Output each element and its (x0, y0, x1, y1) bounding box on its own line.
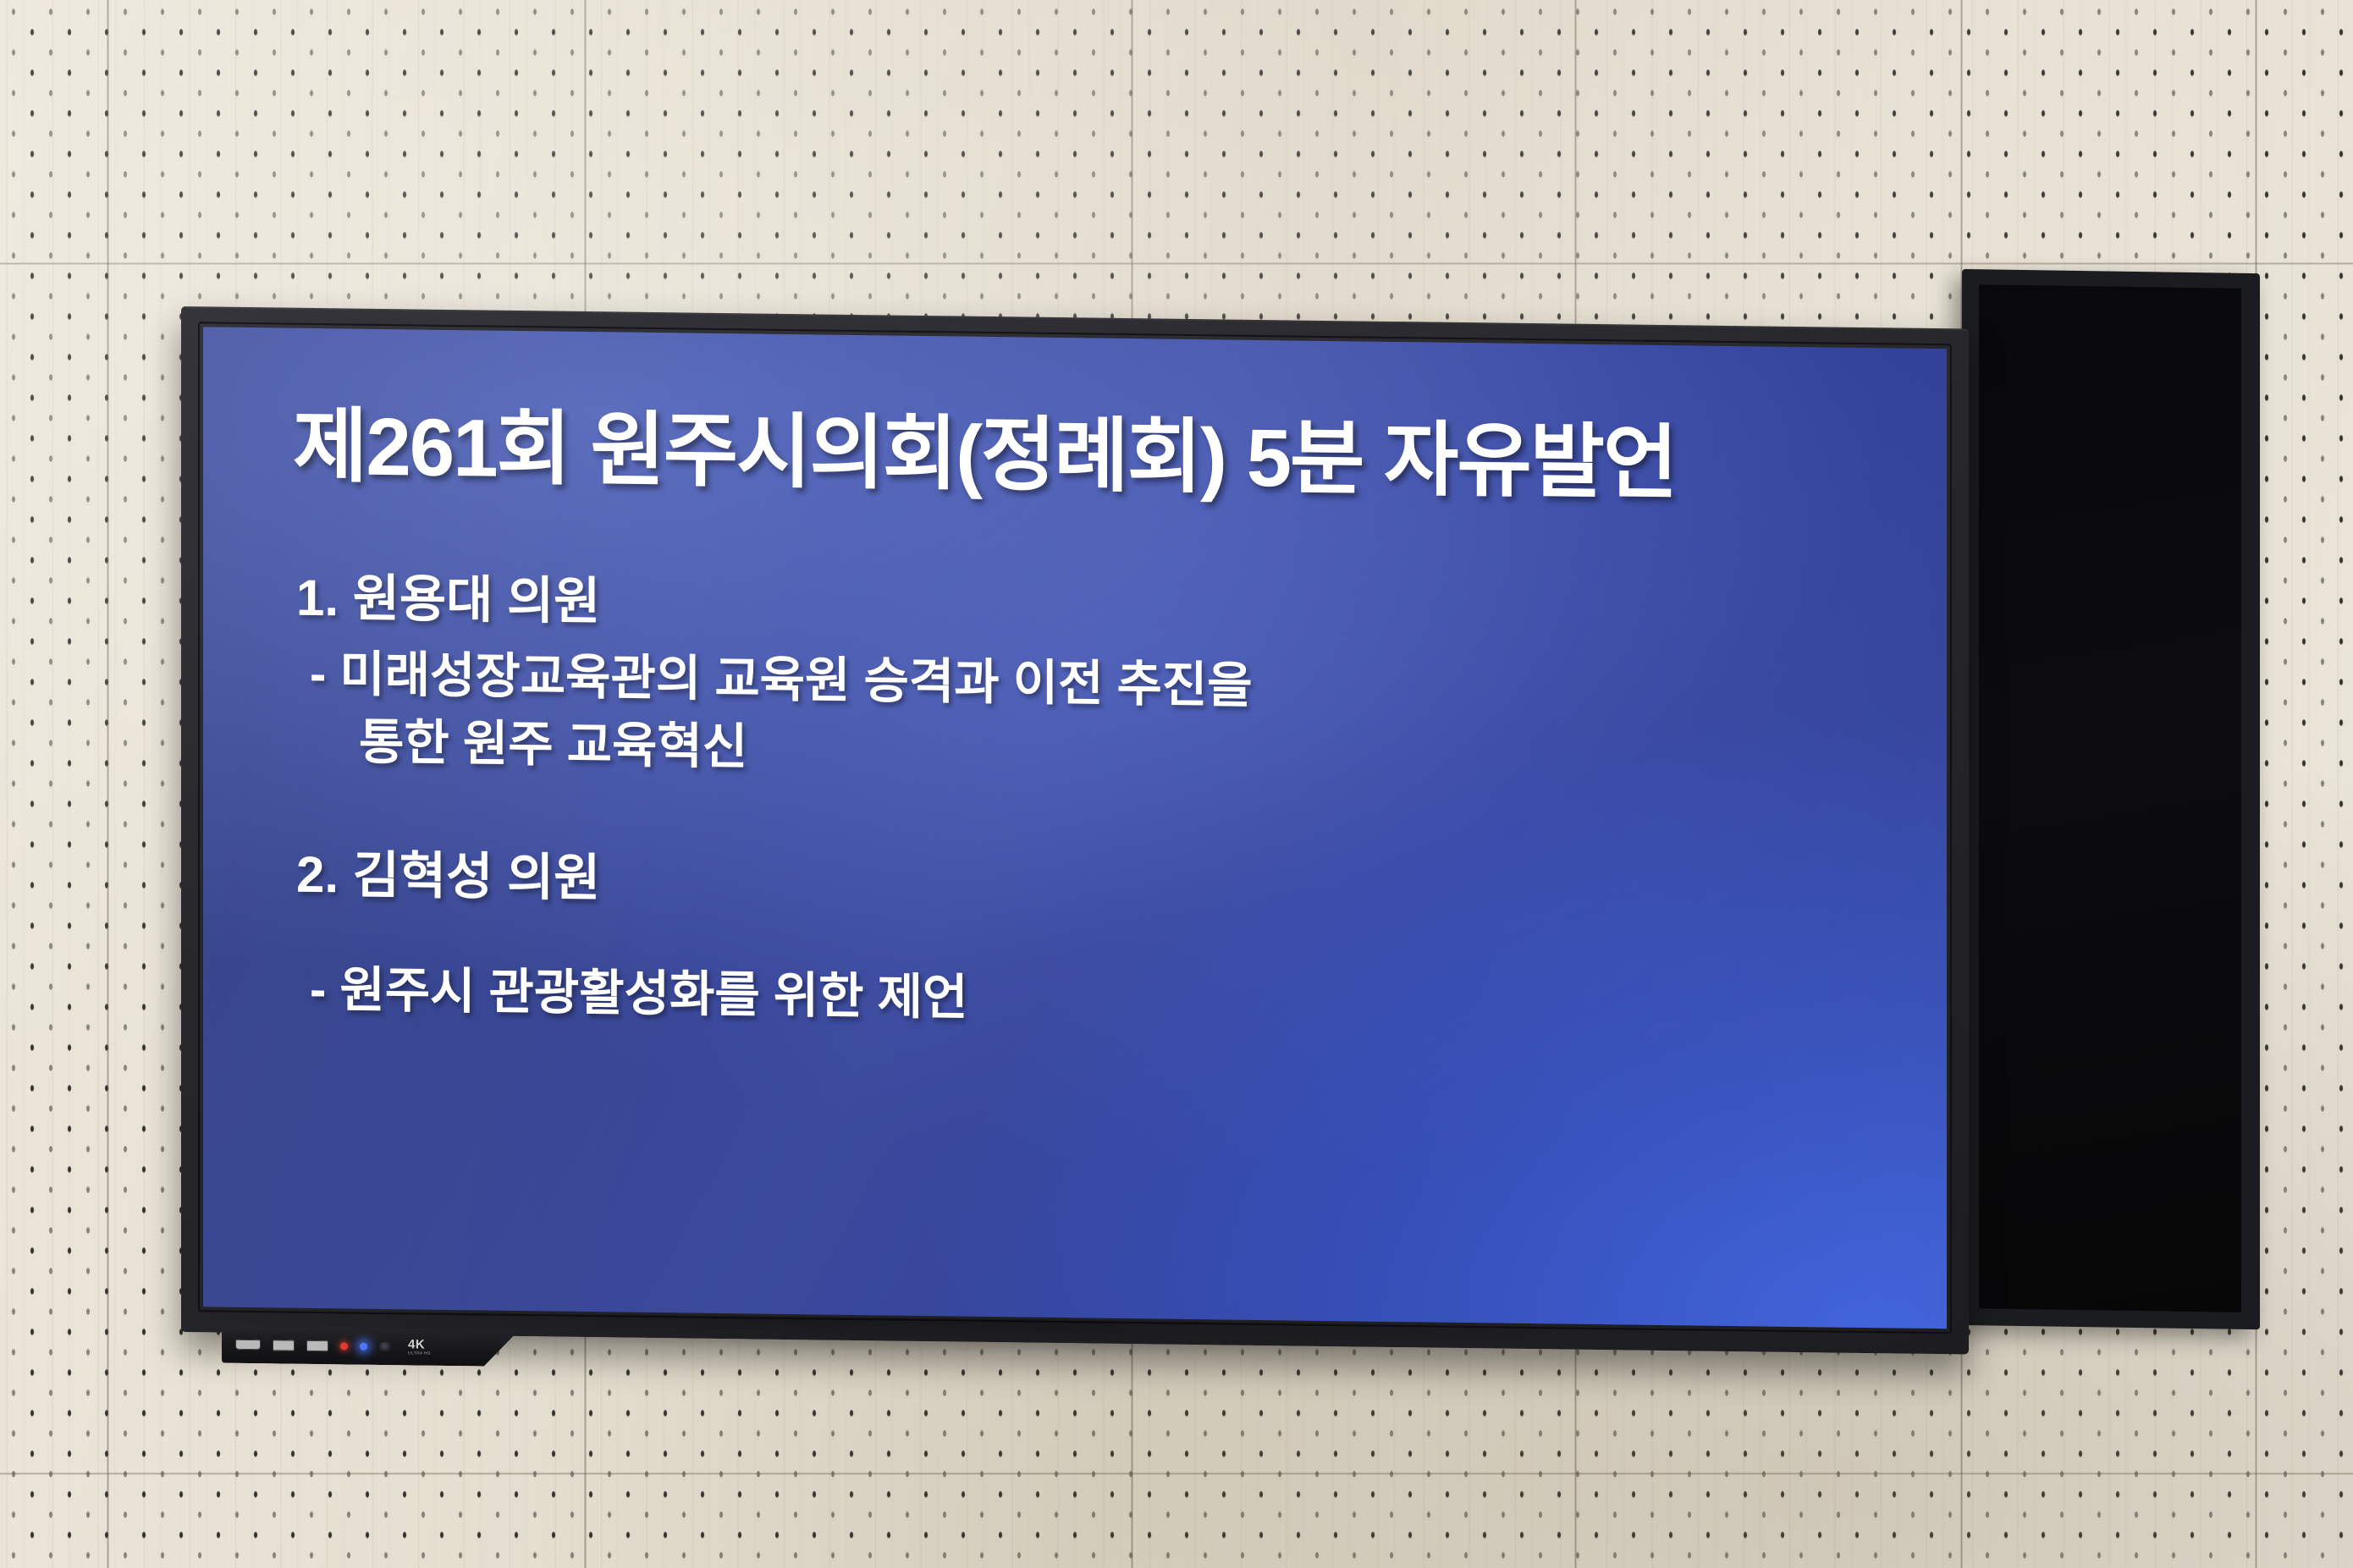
scene-root: 제261회 원주시의회(정례회) 5분 자유발언 1. 원용대 의원 -미래성장… (0, 0, 2353, 1568)
wall-panel-seam-horizontal (0, 1472, 2353, 1475)
agenda-item-1-subtitle: -미래성장교육관의 교육원 승격과 이전 추진을 통한 원주 교육혁신 (310, 641, 1799, 795)
wall-panel-seam-horizontal (0, 262, 2353, 265)
power-led-indicator (340, 1342, 348, 1350)
hdmi-port-icon[interactable] (235, 1340, 261, 1350)
agenda-item-1-subtitle-line2: 통한 원주 교육혁신 (359, 708, 1799, 794)
agenda-item-2: 2. 김혁성 의원 -원주시 관광활성화를 위한 제언 (284, 839, 1887, 1043)
agenda-item-2-subtitle-line1: 원주시 관광활성화를 위한 제언 (339, 962, 967, 1025)
wall-panel-seam (107, 0, 109, 1568)
presentation-slide: 제261회 원주시의회(정례회) 5분 자유발언 1. 원용대 의원 -미래성장… (203, 327, 1947, 1329)
status-led-indicator (360, 1342, 367, 1350)
slide-title: 제261회 원주시의회(정례회) 5분 자유발언 (293, 403, 1887, 510)
agenda-item-1-subtitle-line1: 미래성장교육관의 교육원 승격과 이전 추진을 (339, 646, 1252, 713)
secondary-display[interactable] (1962, 269, 2260, 1329)
resolution-badge-label: 4K (408, 1337, 425, 1351)
agenda-list: 1. 원용대 의원 -미래성장교육관의 교육원 승격과 이전 추진을 통한 원주… (284, 563, 1887, 1043)
agenda-item-1: 1. 원용대 의원 -미래성장교육관의 교육원 승격과 이전 추진을 통한 원주… (284, 563, 1887, 795)
ir-receiver-icon (379, 1341, 393, 1351)
display-screen[interactable]: 제261회 원주시의회(정례회) 5분 자유발언 1. 원용대 의원 -미래성장… (203, 327, 1947, 1329)
bullet-dash-icon: - (310, 646, 326, 701)
bullet-dash-icon: - (310, 962, 326, 1017)
agenda-item-1-heading: 1. 원용대 의원 (296, 563, 1887, 652)
resolution-badge: 4K ULTRA HD (408, 1337, 431, 1356)
usb-port-icon[interactable] (273, 1340, 295, 1351)
resolution-badge-sublabel: ULTRA HD (408, 1351, 431, 1356)
secondary-display-panel (1979, 284, 2241, 1312)
usb-port-icon[interactable] (306, 1340, 328, 1351)
primary-display[interactable]: 제261회 원주시의회(정례회) 5분 자유발언 1. 원용대 의원 -미래성장… (181, 306, 1969, 1355)
io-port-strip[interactable]: 4K ULTRA HD (222, 1326, 520, 1367)
